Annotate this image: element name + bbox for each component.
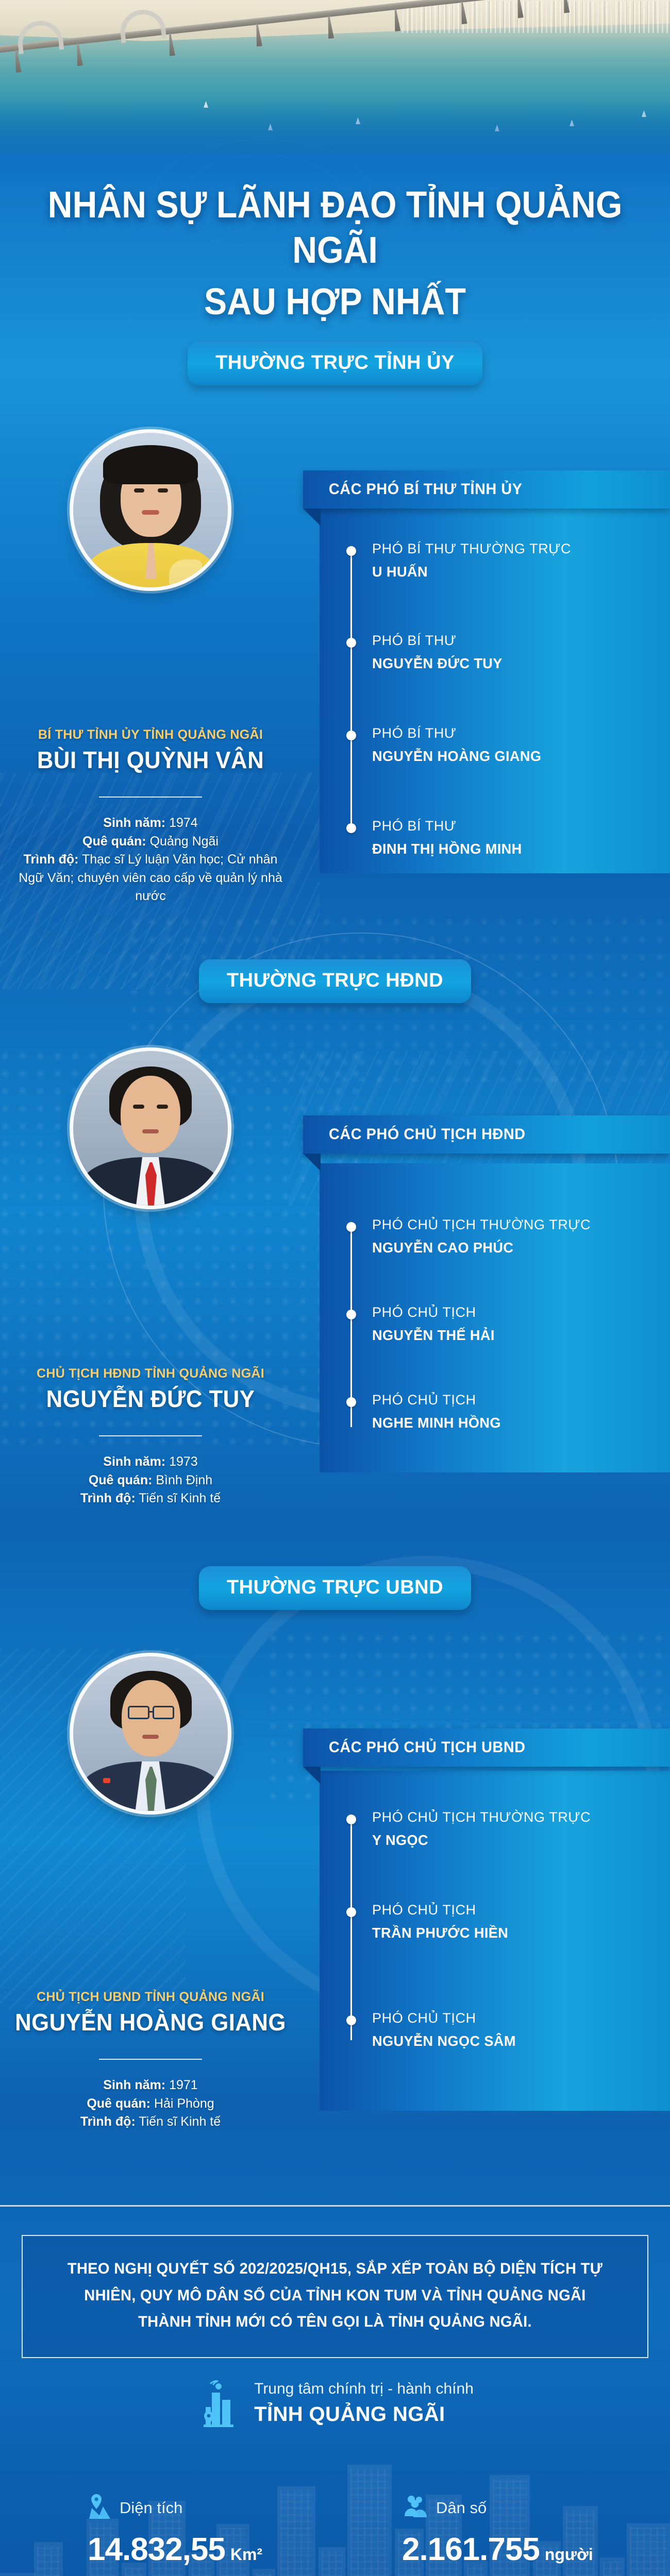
stats-row: Diện tích 14.832,55Km² [0, 2494, 670, 2568]
person-role-3: CHỦ TỊCH UBND TỈNH QUẢNG NGÃI [6, 1990, 295, 2005]
stat-area-value: 14.832,55 [88, 2532, 225, 2567]
stat-population: Dân số 2.161.755người [335, 2494, 670, 2568]
person-meta-2: Sinh năm: 1973 Quê quán: Bình Định Trình… [6, 1453, 295, 1508]
member-name-1-2: NGUYỄN HOÀNG GIANG [372, 748, 541, 765]
member-role-2-0: PHÓ CHỦ TỊCH THƯỜNG TRỰC [372, 1217, 591, 1233]
members-ribbon-label-3: CÁC PHÓ CHỦ TỊCH UBND [329, 1739, 526, 1756]
birth-label-1: Sinh năm: [103, 816, 165, 830]
person-divider-1 [99, 796, 202, 798]
member-name-2-0: NGUYỄN CAO PHÚC [372, 1240, 513, 1256]
person-divider-3 [99, 2059, 202, 2060]
person-hometown-1: Quê quán: Quảng Ngãi [6, 833, 295, 851]
stat-population-value-wrap: 2.161.755người [402, 2531, 670, 2568]
members-ribbon-1: CÁC PHÓ BÍ THƯ TỈNH ỦY [303, 470, 670, 509]
city-tower-icon [196, 2380, 241, 2430]
person-birth-2: Sinh năm: 1973 [6, 1453, 295, 1471]
person-name-3: NGUYỄN HOÀNG GIANG [13, 2008, 288, 2036]
member-name-1-1: NGUYỄN ĐỨC TUY [372, 655, 502, 672]
section-header-ubnd: THƯỜNG TRỰC UBND [0, 1566, 670, 1610]
member-name-2-1: NGUYỄN THẾ HẢI [372, 1327, 495, 1344]
person-birth-3: Sinh năm: 1971 [6, 2076, 295, 2095]
stat-area-label: Diện tích [120, 2499, 182, 2517]
member-role-3-1: PHÓ CHỦ TỊCH [372, 1902, 476, 1918]
timeline-dot [346, 1310, 356, 1319]
person-birth-1: Sinh năm: 1974 [6, 814, 295, 833]
birth-value-2: 1973 [169, 1454, 198, 1469]
stat-area-unit: Km² [230, 2545, 262, 2564]
stat-population-value: 2.161.755 [402, 2532, 540, 2567]
ribbon-tail-3 [303, 1767, 321, 1784]
members-ribbon-2: CÁC PHÓ CHỦ TỊCH HĐND [303, 1115, 670, 1154]
birth-label-2: Sinh năm: [103, 1454, 165, 1469]
timeline-line-3 [350, 1819, 352, 2040]
education-label-1: Trình độ: [24, 852, 79, 867]
capital-text: Trung tâm chính trị - hành chính TỈNH QU… [254, 2380, 474, 2426]
member-role-3-2: PHÓ CHỦ TỊCH [372, 2010, 476, 2026]
timeline-dot [346, 638, 356, 648]
education-value-2: Tiến sĩ Kinh tế [139, 1491, 221, 1505]
person-meta-1: Sinh năm: 1974 Quê quán: Quảng Ngãi Trìn… [6, 814, 295, 906]
person-name-2: NGUYỄN ĐỨC TUY [13, 1385, 288, 1413]
members-ribbon-label-2: CÁC PHÓ CHỦ TỊCH HĐND [329, 1126, 526, 1143]
education-value-3: Tiến sĩ Kinh tế [139, 2114, 221, 2129]
birth-label-3: Sinh năm: [103, 2078, 165, 2092]
members-ribbon-label-1: CÁC PHÓ BÍ THƯ TỈNH ỦY [329, 481, 523, 498]
timeline-dot [346, 1815, 356, 1824]
member-name-3-2: NGUYỄN NGỌC SÂM [372, 2033, 516, 2049]
person-name-1: BÙI THỊ QUỲNH VÂN [13, 746, 288, 774]
timeline-dot [346, 1222, 356, 1232]
capital-value: TỈNH QUẢNG NGÃI [254, 2403, 474, 2426]
hometown-value-2: Bình Định [156, 1473, 212, 1487]
section-header-tinh-uy: THƯỜNG TRỰC TỈNH ỦY [0, 342, 670, 385]
member-role-3-0: PHÓ CHỦ TỊCH THƯỜNG TRỰC [372, 1809, 591, 1825]
section-header-hdnd: THƯỜNG TRỰC HĐND [0, 959, 670, 1003]
timeline-dot [346, 1397, 356, 1407]
note-separator [0, 2205, 670, 2207]
capital-row: Trung tâm chính trị - hành chính TỈNH QU… [0, 2380, 670, 2430]
education-label-2: Trình độ: [80, 1491, 136, 1505]
note-box: THEO NGHỊ QUYẾT SỐ 202/2025/QH15, SẮP XẾ… [22, 2235, 648, 2358]
capital-label: Trung tâm chính trị - hành chính [254, 2380, 474, 2398]
section-pill-label: THƯỜNG TRỰC TỈNH ỦY [188, 342, 482, 385]
member-name-1-3: ĐINH THỊ HỒNG MINH [372, 841, 522, 857]
education-label-3: Trình độ: [80, 2114, 136, 2129]
member-role-1-0: PHÓ BÍ THƯ THƯỜNG TRỰC [372, 541, 571, 557]
portrait-bui-thi-quynh-van [73, 433, 228, 587]
stat-population-label: Dân số [436, 2499, 487, 2517]
section-pill-label: THƯỜNG TRỰC UBND [199, 1566, 471, 1610]
stat-population-unit: người [545, 2545, 593, 2564]
member-name-3-1: TRẦN PHƯỚC HIỀN [372, 1925, 508, 1941]
person-meta-3: Sinh năm: 1971 Quê quán: Hải Phòng Trình… [6, 2076, 295, 2131]
timeline-dot [346, 823, 356, 833]
page-title: NHÂN SỰ LÃNH ĐẠO TỈNH QUẢNG NGÃI SAU HỢP… [27, 183, 643, 325]
member-role-1-2: PHÓ BÍ THƯ [372, 725, 457, 741]
ribbon-tail-1 [303, 509, 321, 526]
person-role-1: BÍ THƯ TỈNH ỦY TỈNH QUẢNG NGÃI [6, 727, 295, 742]
people-icon [402, 2494, 428, 2522]
person-hometown-3: Quê quán: Hải Phòng [6, 2095, 295, 2113]
hometown-label-1: Quê quán: [82, 834, 146, 849]
hometown-label-3: Quê quán: [87, 2096, 150, 2111]
birth-value-1: 1974 [169, 816, 198, 830]
hero-gradient-fade [0, 98, 670, 175]
person-role-2: CHỦ TỊCH HĐND TỈNH QUẢNG NGÃI [6, 1366, 295, 1381]
hometown-value-1: Quảng Ngãi [150, 834, 219, 849]
stat-area-head: Diện tích [88, 2494, 335, 2522]
hometown-label-2: Quê quán: [89, 1473, 153, 1487]
timeline-dot [346, 1907, 356, 1917]
member-name-1-0: U HUẤN [372, 564, 428, 580]
portrait-nguyen-duc-tuy [73, 1051, 228, 1206]
member-role-1-1: PHÓ BÍ THƯ [372, 633, 457, 649]
note-text: THEO NGHỊ QUYẾT SỐ 202/2025/QH15, SẮP XẾ… [56, 2256, 614, 2335]
stat-area: Diện tích 14.832,55Km² [0, 2494, 335, 2568]
hometown-value-3: Hải Phòng [154, 2096, 214, 2111]
person-divider-2 [99, 1435, 202, 1436]
page-title-line-2: SAU HỢP NHẤT [27, 280, 643, 325]
timeline-dot [346, 731, 356, 740]
members-ribbon-3: CÁC PHÓ CHỦ TỊCH UBND [303, 1728, 670, 1767]
timeline-line-1 [350, 550, 352, 828]
member-role-1-3: PHÓ BÍ THƯ [372, 818, 457, 834]
member-name-3-0: Y NGỌC [372, 1832, 428, 1849]
timeline-dot [346, 2015, 356, 2025]
person-education-2: Trình độ: Tiến sĩ Kinh tế [6, 1489, 295, 1508]
member-name-2-2: NGHE MINH HỒNG [372, 1415, 501, 1431]
stat-area-value-wrap: 14.832,55Km² [88, 2531, 335, 2568]
infographic-root: NHÂN SỰ LÃNH ĐẠO TỈNH QUẢNG NGÃI SAU HỢP… [0, 0, 670, 2576]
timeline-dot [346, 546, 356, 556]
portrait-nguyen-hoang-giang [73, 1656, 228, 1811]
birth-value-3: 1971 [169, 2078, 198, 2092]
member-role-2-2: PHÓ CHỦ TỊCH [372, 1392, 476, 1408]
map-pin-icon [88, 2494, 111, 2522]
ribbon-tail-2 [303, 1154, 321, 1171]
member-role-2-1: PHÓ CHỦ TỊCH [372, 1304, 476, 1320]
stat-population-head: Dân số [402, 2494, 670, 2522]
person-education-3: Trình độ: Tiến sĩ Kinh tế [6, 2113, 295, 2131]
person-education-1: Trình độ: Thạc sĩ Lý luận Văn học; Cử nh… [6, 851, 295, 906]
page-title-line-1: NHÂN SỰ LÃNH ĐẠO TỈNH QUẢNG NGÃI [48, 184, 623, 271]
person-hometown-2: Quê quán: Bình Định [6, 1471, 295, 1490]
section-pill-label: THƯỜNG TRỰC HĐND [199, 959, 471, 1003]
